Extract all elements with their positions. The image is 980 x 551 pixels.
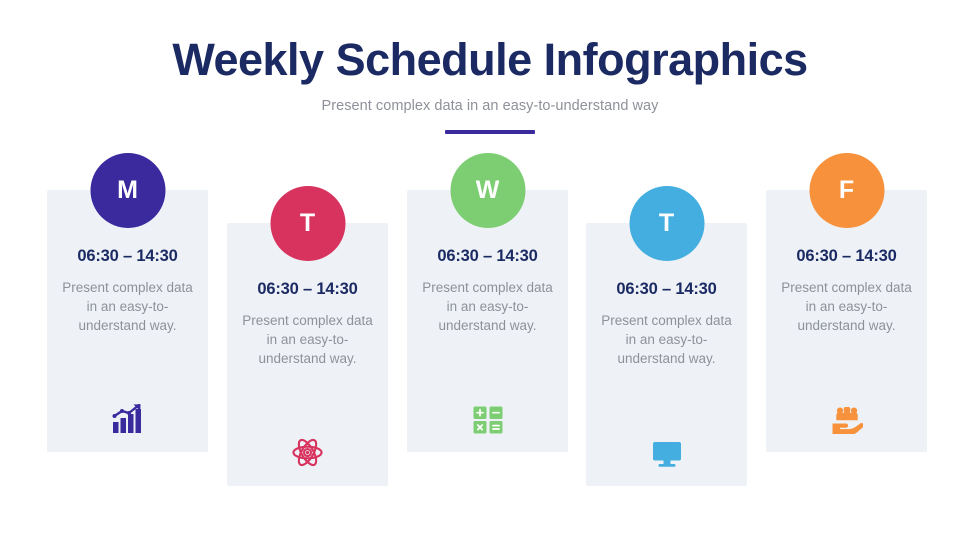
schedule-card-monday[interactable]: M 06:30 – 14:30 Present complex data in … — [47, 190, 208, 452]
card-icon-slot — [766, 400, 927, 434]
atom-icon — [292, 437, 323, 468]
card-icon-slot — [407, 400, 568, 434]
time-range: 06:30 – 14:30 — [227, 280, 388, 299]
card-description: Present complex data in an easy-to-under… — [600, 311, 733, 368]
time-range: 06:30 – 14:30 — [586, 280, 747, 299]
card-icon-slot — [227, 434, 388, 468]
day-badge-friday: F — [809, 153, 884, 228]
page-title: Weekly Schedule Infographics — [0, 36, 980, 85]
monitor-icon — [652, 441, 682, 468]
day-badge-thursday: T — [629, 186, 704, 261]
day-letter: F — [839, 178, 854, 203]
day-letter: W — [476, 178, 500, 203]
card-description: Present complex data in an easy-to-under… — [421, 278, 554, 335]
card-icon-slot — [586, 434, 747, 468]
day-letter: T — [300, 211, 315, 236]
header: Weekly Schedule Infographics Present com… — [0, 36, 980, 134]
schedule-cards-row: M 06:30 – 14:30 Present complex data in … — [47, 190, 933, 490]
card-icon-slot — [47, 400, 208, 434]
schedule-card-tuesday[interactable]: T 06:30 – 14:30 Present complex data in … — [227, 223, 388, 486]
calculator-icon — [473, 406, 503, 434]
accent-divider — [445, 130, 535, 134]
page-subtitle: Present complex data in an easy-to-under… — [0, 98, 980, 114]
time-range: 06:30 – 14:30 — [47, 247, 208, 266]
card-description: Present complex data in an easy-to-under… — [61, 278, 194, 335]
schedule-card-wednesday[interactable]: W 06:30 – 14:30 Present complex data in … — [407, 190, 568, 452]
day-badge-monday: M — [90, 153, 165, 228]
hand-holding-people-icon — [831, 407, 863, 434]
slide-canvas: Weekly Schedule Infographics Present com… — [0, 0, 980, 551]
day-badge-wednesday: W — [450, 153, 525, 228]
schedule-card-friday[interactable]: F 06:30 – 14:30 Present complex data in … — [766, 190, 927, 452]
schedule-card-thursday[interactable]: T 06:30 – 14:30 Present complex data in … — [586, 223, 747, 486]
day-letter: M — [117, 178, 138, 203]
card-description: Present complex data in an easy-to-under… — [780, 278, 913, 335]
day-letter: T — [659, 211, 674, 236]
card-description: Present complex data in an easy-to-under… — [241, 311, 374, 368]
time-range: 06:30 – 14:30 — [766, 247, 927, 266]
day-badge-tuesday: T — [270, 186, 345, 261]
bar-chart-growth-icon — [112, 404, 144, 434]
time-range: 06:30 – 14:30 — [407, 247, 568, 266]
